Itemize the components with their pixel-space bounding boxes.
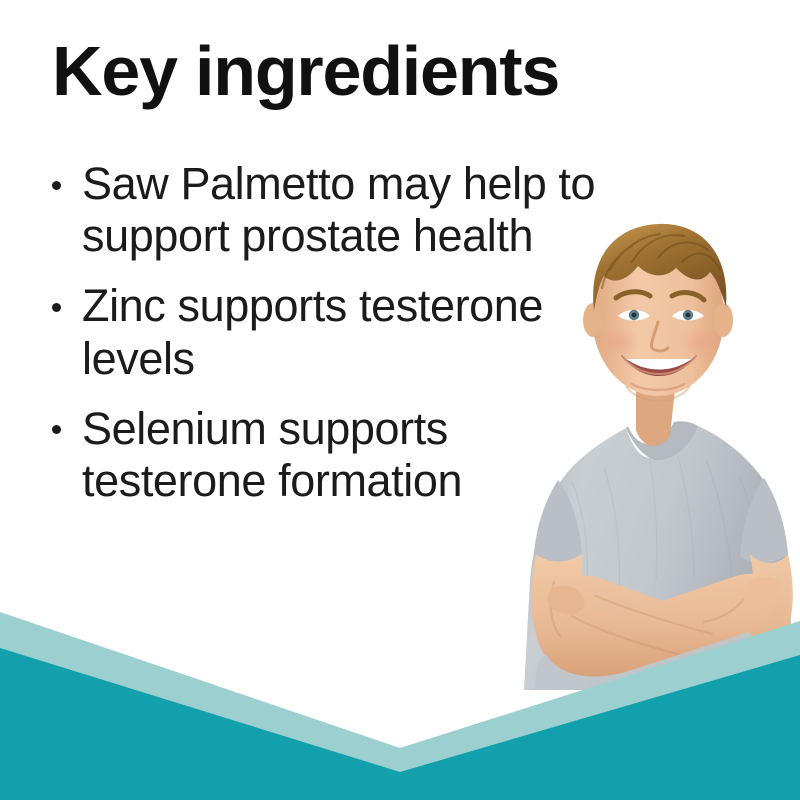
list-item: Zinc supports testerone levels <box>44 280 604 384</box>
bullet-dot-icon <box>52 425 61 434</box>
promo-banner: Key ingredients Saw Palmetto may help to… <box>0 0 800 800</box>
list-item: Saw Palmetto may help to support prostat… <box>44 158 604 262</box>
bullet-dot-icon <box>52 303 61 312</box>
pupil-left <box>632 313 637 318</box>
list-item-text: Zinc supports testerone levels <box>82 280 543 383</box>
page-title: Key ingredients <box>52 36 672 106</box>
list-item-text: Saw Palmetto may help to support prostat… <box>82 158 595 261</box>
list-item: Selenium supports testerone formation <box>44 403 604 507</box>
list-item-text: Selenium supports testerone formation <box>82 403 462 506</box>
bullet-dot-icon <box>52 181 61 190</box>
cheek-right <box>678 326 722 358</box>
pupil-right <box>686 313 691 318</box>
key-ingredients-list: Saw Palmetto may help to support prostat… <box>44 158 604 507</box>
